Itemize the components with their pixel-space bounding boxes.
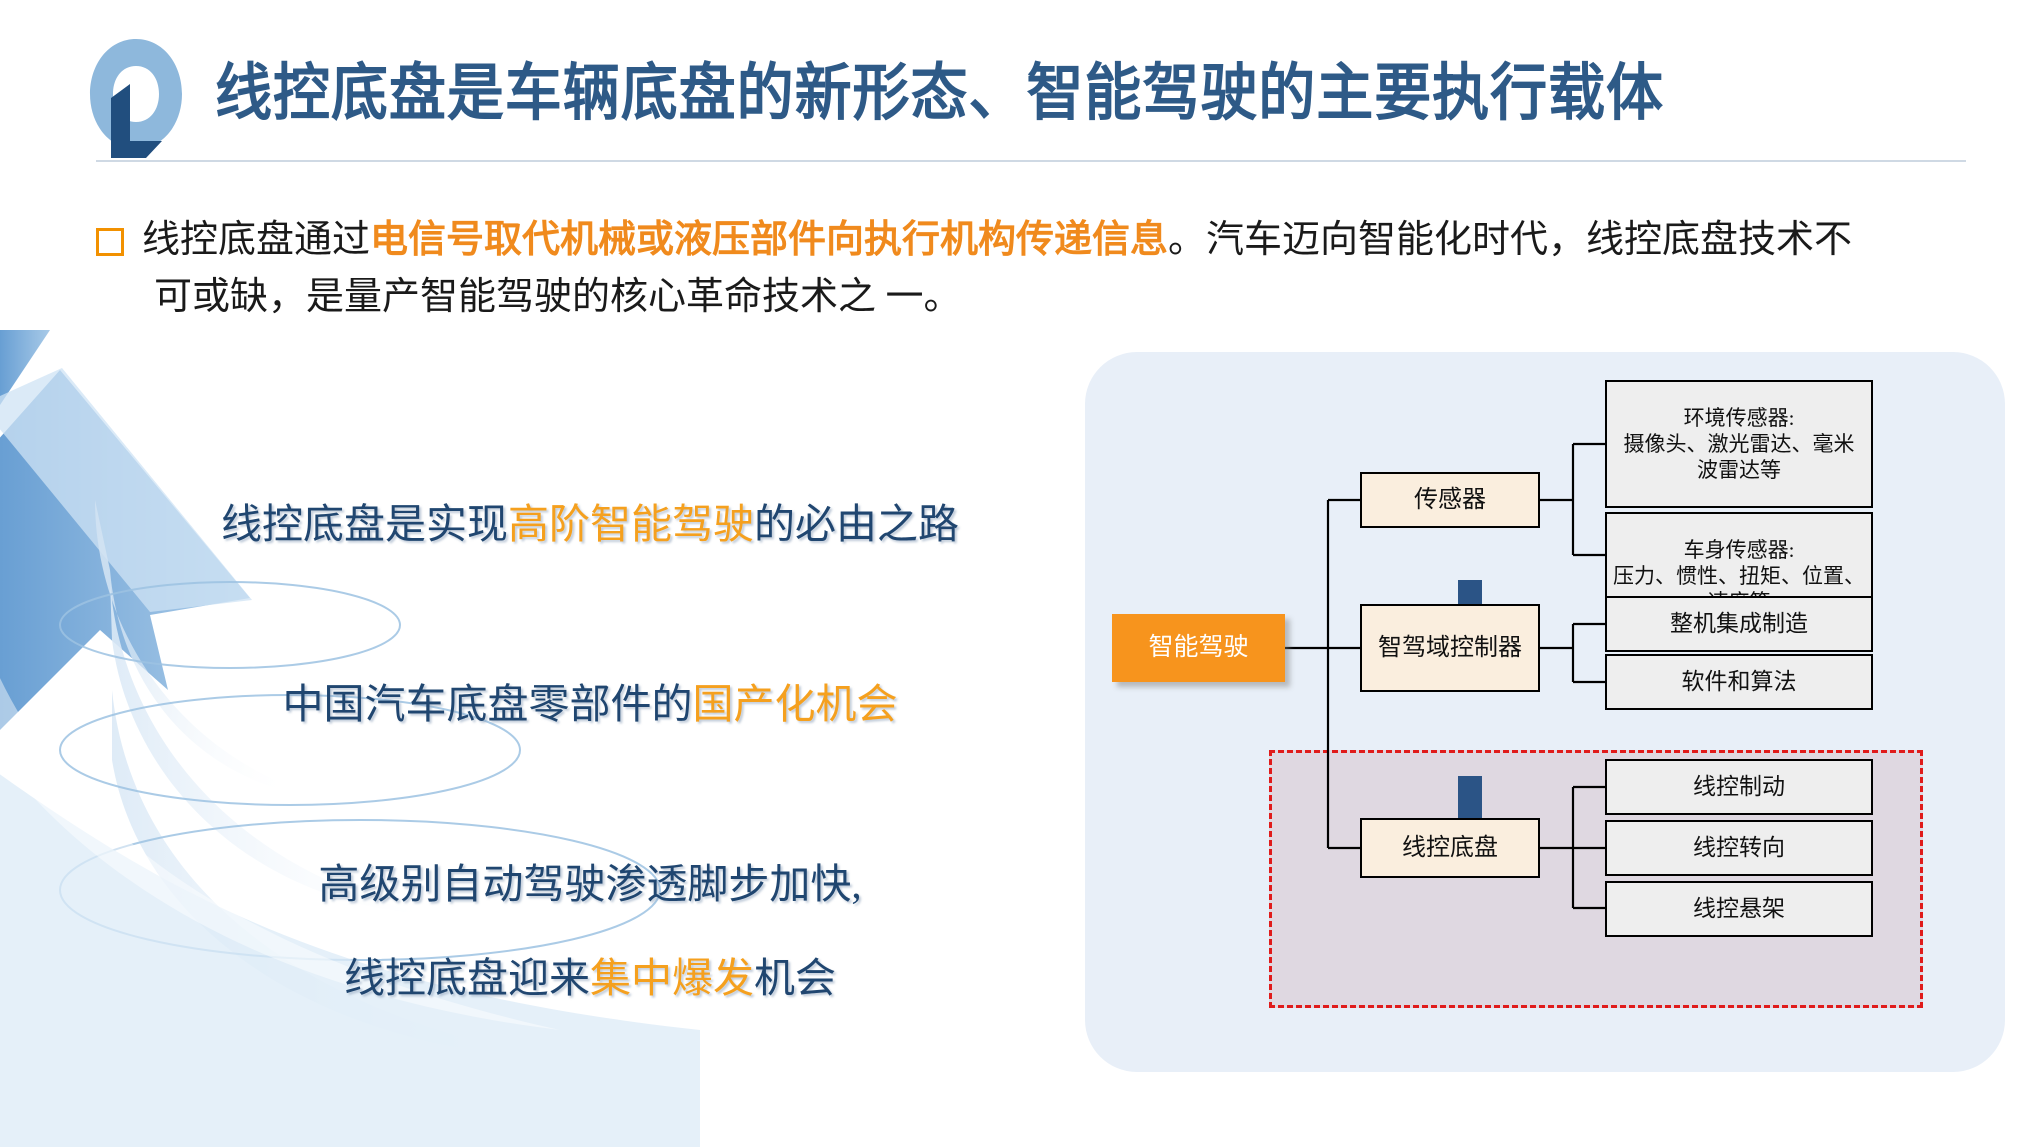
slide-header: 线控底盘是车辆底盘的新形态、智能驾驶的主要执行载体 xyxy=(0,0,2039,165)
slogan-3-line-2: 线控底盘迎来集中爆发机会 xyxy=(150,944,1030,1004)
diagram-leaf-software-algorithm-label: 软件和算法 xyxy=(1682,668,1797,697)
diagram-node-wire-chassis-label: 线控底盘 xyxy=(1402,833,1498,863)
paragraph-highlight: 电信号取代机械或液压部件向执行机构传递信息 xyxy=(370,219,1168,261)
slogan-list: 线控底盘是实现高阶智能驾驶的必由之路 中国汽车底盘零部件的国产化机会 高级别自动… xyxy=(150,490,1030,1004)
square-bullet-icon xyxy=(96,228,124,256)
slogan-1-text-b: 的必由之路 xyxy=(754,501,959,547)
diagram-node-root[interactable]: 智能驾驶 xyxy=(1112,614,1285,682)
diagram-leaf-software-algorithm[interactable]: 软件和算法 xyxy=(1605,654,1873,710)
diagram-node-domain-controller-label: 智驾域控制器 xyxy=(1378,633,1522,663)
diagram-leaf-wire-suspension[interactable]: 线控悬架 xyxy=(1605,881,1873,937)
diagram-leaf-wire-brake-label: 线控制动 xyxy=(1693,773,1785,802)
slogan-3-text-a: 线控底盘迎来 xyxy=(344,955,590,1001)
page-title: 线控底盘是车辆底盘的新形态、智能驾驶的主要执行载体 xyxy=(215,42,1664,132)
diagram-node-wire-chassis[interactable]: 线控底盘 xyxy=(1360,818,1540,878)
paragraph-line-2: 可或缺，是量产智能驾驶的核心革命技术之 一。 xyxy=(154,269,1976,326)
slogan-item-3: 高级别自动驾驶渗透脚步加快, 线控底盘迎来集中爆发机会 xyxy=(150,850,1030,1004)
diagram-leaf-wire-brake[interactable]: 线控制动 xyxy=(1605,759,1873,815)
diagram-leaf-integrated-manufacturing-label: 整机集成制造 xyxy=(1670,610,1808,639)
diagram-leaf-environment-sensor[interactable]: 环境传感器:摄像头、激光雷达、毫米波雷达等 xyxy=(1605,380,1873,508)
slogan-2-text-a: 中国汽车底盘零部件的 xyxy=(283,681,693,727)
slogan-1-text-a: 线控底盘是实现 xyxy=(221,501,508,547)
slogan-3-highlight: 集中爆发 xyxy=(590,955,754,1001)
paragraph-line-1: 线控底盘通过电信号取代机械或液压部件向执行机构传递信息。汽车迈向智能化时代，线控… xyxy=(142,212,1852,269)
ring-logo-icon xyxy=(86,36,186,158)
diagram-node-domain-controller[interactable]: 智驾域控制器 xyxy=(1360,604,1540,692)
diagram-leaf-wire-steering[interactable]: 线控转向 xyxy=(1605,820,1873,876)
diagram-leaf-wire-steering-label: 线控转向 xyxy=(1693,834,1785,863)
slogan-item-1: 线控底盘是实现高阶智能驾驶的必由之路 xyxy=(150,490,1030,550)
diagram-leaf-integrated-manufacturing[interactable]: 整机集成制造 xyxy=(1605,596,1873,652)
diagram-node-sensor-label: 传感器 xyxy=(1414,485,1486,515)
diagram-leaf-wire-suspension-label: 线控悬架 xyxy=(1693,895,1785,924)
diagram-node-sensor[interactable]: 传感器 xyxy=(1360,472,1540,528)
title-divider xyxy=(96,160,1966,162)
summary-paragraph: 线控底盘通过电信号取代机械或液压部件向执行机构传递信息。汽车迈向智能化时代，线控… xyxy=(96,212,1976,326)
paragraph-text-b: 。汽车迈向智能化时代，线控底盘技术不 xyxy=(1168,219,1852,261)
slogan-1-highlight: 高阶智能驾驶 xyxy=(508,501,754,547)
diagram-node-root-label: 智能驾驶 xyxy=(1148,632,1248,663)
slogan-2-highlight: 国产化机会 xyxy=(693,681,898,727)
paragraph-text-a: 线控底盘通过 xyxy=(142,219,370,261)
slogan-3-line-1: 高级别自动驾驶渗透脚步加快, xyxy=(318,861,861,907)
architecture-diagram-panel: 智能驾驶 传感器 智驾域控制器 线控底盘 环境传感器:摄像头、激光雷达、毫米波雷… xyxy=(1085,352,2005,1072)
slogan-item-2: 中国汽车底盘零部件的国产化机会 xyxy=(150,670,1030,730)
diagram-leaf-environment-sensor-label: 环境传感器:摄像头、激光雷达、毫米波雷达等 xyxy=(1624,405,1855,484)
slogan-3-text-b: 机会 xyxy=(754,955,836,1001)
